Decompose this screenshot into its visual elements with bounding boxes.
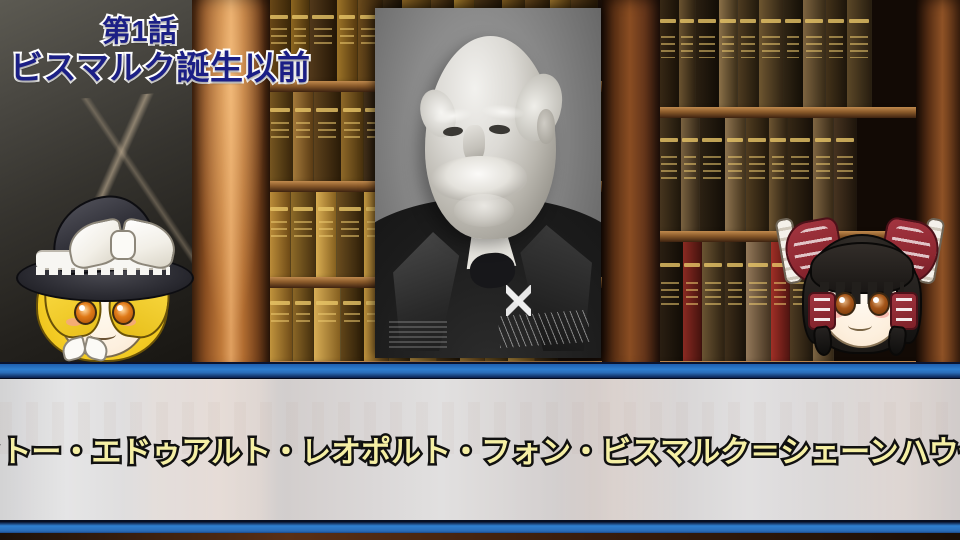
reimu-hair-fringe [810,242,914,294]
book-spine [725,118,746,231]
book-spine [700,118,725,231]
book-spine [702,242,725,361]
book-spine [291,192,316,277]
book-spine [658,118,681,231]
book-group [658,118,918,231]
book-spine [683,242,702,361]
marisa-eye-right [112,300,135,325]
character-marisa-kirisame [18,196,186,366]
video-frame: 第1話 ビスマルク誕生以前 [0,0,960,540]
character-reimu-hakurei [784,216,936,368]
photo-medal-decoration [506,285,531,317]
marisa-side-bow [62,338,106,358]
book-spine [788,118,813,231]
photo-chin [454,194,514,226]
shelf-board [658,107,918,118]
bookshelf-row [658,0,918,118]
book-spine [658,242,683,361]
book-spine [719,0,738,107]
marisa-bow-knot [110,230,136,260]
photo-handwritten-signature [498,309,590,347]
book-spine [268,92,293,181]
book-spine [746,242,771,361]
book-group [658,0,918,107]
book-spine [658,0,679,107]
reimu-eye-right [868,292,890,316]
photo-ear [537,109,554,144]
footer-strip [0,533,960,540]
book-spine [725,242,746,361]
book-spine [826,0,847,107]
photo-eye-right [489,125,511,136]
book-spine [769,118,788,231]
book-spine [268,192,291,277]
book-spine [681,118,700,231]
book-spine [696,0,719,107]
book-spine [314,288,341,361]
book-spine [268,288,293,361]
book-spine [337,0,358,81]
book-spine [679,0,696,107]
wood-pillar-center [602,0,660,372]
book-spine [738,0,759,107]
reimu-hair-tube-right [890,292,918,330]
book-spine [316,192,337,277]
book-spine [337,192,364,277]
book-spine [813,118,834,231]
reimu-hair-tail-left [812,325,833,357]
marisa-hat-bow [68,222,176,266]
book-spine [834,118,857,231]
book-spine [293,92,314,181]
marisa-eye-left [74,300,97,325]
bismarck-portrait-photo [375,8,601,358]
reimu-eye-left [834,292,856,316]
book-spine [341,288,364,361]
reimu-hair-tube-left [808,292,836,330]
book-spine [314,92,341,181]
reimu-hair-tail-right [886,325,907,357]
subtitle-text: オットー・エドゥアルト・レオポルト・フォン・ビスマルク＝シェーンハウゼン [0,376,960,522]
reimu-mouth [848,320,872,331]
book-spine [759,0,784,107]
marisa-witch-hat [16,198,190,302]
book-spine [803,0,826,107]
episode-title-overlay: 第1話 ビスマルク誕生以前 [10,18,311,84]
episode-number-label: 第1話 [102,18,311,48]
book-spine [310,0,337,81]
book-spine [341,92,364,181]
book-spine [746,118,769,231]
book-spine [784,0,803,107]
episode-title-label: ビスマルク誕生以前 [10,51,311,85]
photo-printed-stamp [389,320,448,348]
book-spine [847,0,872,107]
book-spine [293,288,314,361]
